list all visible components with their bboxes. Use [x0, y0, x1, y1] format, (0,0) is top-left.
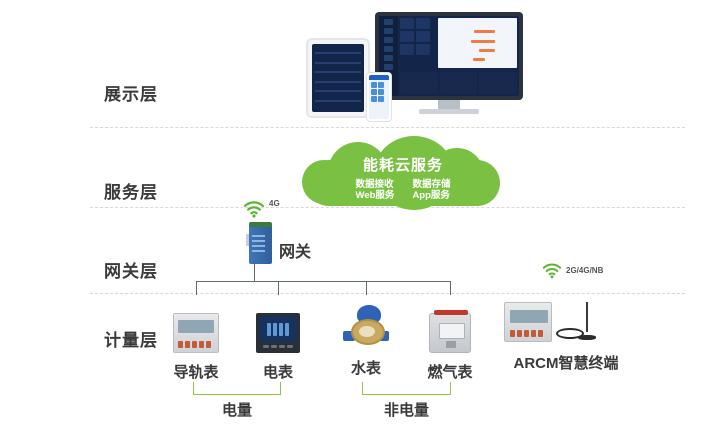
- smartphone-device: [366, 72, 392, 122]
- meter-label-din-rail: 导轨表: [153, 361, 239, 382]
- monitor-stand-neck: [438, 100, 460, 109]
- display-layer-devices: [306, 12, 536, 122]
- gateway-label: 网关: [279, 238, 311, 262]
- connector-branch-din-rail: [196, 281, 197, 295]
- din-rail-meter-icon: [153, 305, 239, 353]
- gateway-body: [249, 227, 272, 264]
- water-meter-icon: [323, 301, 409, 349]
- gateway-node: 4G 网关: [243, 200, 353, 266]
- arcm-terminal-display: [510, 310, 548, 323]
- layer-label-metering: 计量层: [104, 326, 158, 351]
- meter-label-water: 水表: [323, 357, 409, 378]
- layer-separator-gateway-metering: [90, 293, 685, 294]
- group-label-electric: 电量: [193, 399, 281, 420]
- cloud-text-block: 能耗云服务 数据接收 Web服务 数据存储 App服务: [298, 142, 508, 208]
- group-label-non-electric: 非电量: [362, 399, 451, 420]
- cloud-feature-column-left: 数据接收 Web服务: [356, 179, 395, 201]
- cloud-feature-app-service: App服务: [412, 190, 449, 201]
- arcm-terminal-label: ARCM智慧终端: [496, 352, 636, 373]
- bracket-electric-group: [193, 382, 281, 395]
- connector-branch-water: [366, 281, 367, 295]
- meter-label-electric: 电表: [235, 361, 321, 382]
- water-meter-body: [343, 305, 389, 349]
- layer-separator-display-service: [90, 127, 685, 128]
- antenna-icon: [556, 302, 602, 342]
- electric-meter-buttons: [259, 345, 297, 348]
- meter-electric: 电表: [235, 305, 321, 382]
- monitor-stand-base: [419, 109, 479, 114]
- electric-meter-icon: [235, 305, 321, 353]
- antenna-cable: [556, 328, 584, 339]
- cloud-feature-column-right: 数据存储 App服务: [412, 179, 450, 201]
- monitor-bezel: [375, 12, 523, 100]
- din-rail-meter-terminals: [178, 341, 211, 348]
- smartphone-screen: [369, 75, 389, 119]
- electric-meter-display: [259, 316, 297, 342]
- connector-distribution-bus: [196, 281, 451, 282]
- dashboard-chart-row: [398, 70, 519, 96]
- connector-branch-electric: [278, 281, 279, 295]
- meter-water: 水表: [323, 301, 409, 378]
- cloud-feature-list: 数据接收 Web服务 数据存储 App服务: [356, 179, 451, 201]
- layer-label-display: 展示层: [104, 80, 158, 105]
- layer-label-service: 服务层: [104, 178, 158, 203]
- gas-meter-icon: [407, 305, 493, 353]
- connector-gateway-trunk: [254, 264, 255, 282]
- gas-meter-body: [429, 313, 471, 353]
- gas-meter-display: [439, 323, 465, 339]
- cloud-feature-web-service: Web服务: [356, 190, 395, 201]
- tablet-device: [306, 38, 370, 118]
- monitor-device: [375, 12, 523, 100]
- wifi-icon: [243, 200, 265, 218]
- layer-label-gateway: 网关层: [104, 257, 158, 282]
- dashboard-map: [438, 18, 517, 68]
- connector-branch-gas: [450, 281, 451, 295]
- meter-label-gas: 燃气表: [407, 361, 493, 382]
- smartphone-app-grid: [369, 80, 389, 104]
- arcm-network-group: 2G/4G/NB: [542, 262, 622, 279]
- gateway-network-label: 4G: [269, 199, 280, 208]
- din-rail-meter-display: [178, 320, 214, 333]
- dashboard-top-row: [398, 16, 519, 70]
- cloud-feature-data-receive: 数据接收: [356, 179, 394, 190]
- monitor-screen: [379, 16, 519, 96]
- wifi-icon: [542, 262, 562, 279]
- tablet-screen: [312, 44, 364, 112]
- arcm-device-row: [504, 302, 602, 342]
- dashboard-stat-cards: [398, 16, 436, 70]
- bracket-non-electric-group: [362, 382, 451, 395]
- arcm-terminal-terminals: [510, 330, 543, 337]
- architecture-diagram: 展示层 服务层 网关层 计量层: [0, 0, 715, 443]
- meter-din-rail: 导轨表: [153, 305, 239, 382]
- electric-meter-body: [256, 313, 300, 353]
- arcm-network-label: 2G/4G/NB: [566, 266, 603, 275]
- dashboard-main: [398, 16, 519, 96]
- cloud-title: 能耗云服务: [363, 154, 443, 175]
- arcm-terminal-device: [504, 302, 552, 342]
- gas-meter-top-pipe: [434, 310, 468, 315]
- meter-gas: 燃气表: [407, 305, 493, 382]
- gateway-device: [249, 222, 272, 264]
- water-meter-dial: [351, 319, 385, 345]
- antenna-rod: [586, 302, 588, 332]
- din-rail-meter-body: [173, 313, 219, 353]
- cloud-feature-data-storage: 数据存储: [412, 179, 450, 190]
- gas-meter-knob: [446, 341, 456, 348]
- cloud-service-node: 能耗云服务 数据接收 Web服务 数据存储 App服务: [298, 142, 508, 208]
